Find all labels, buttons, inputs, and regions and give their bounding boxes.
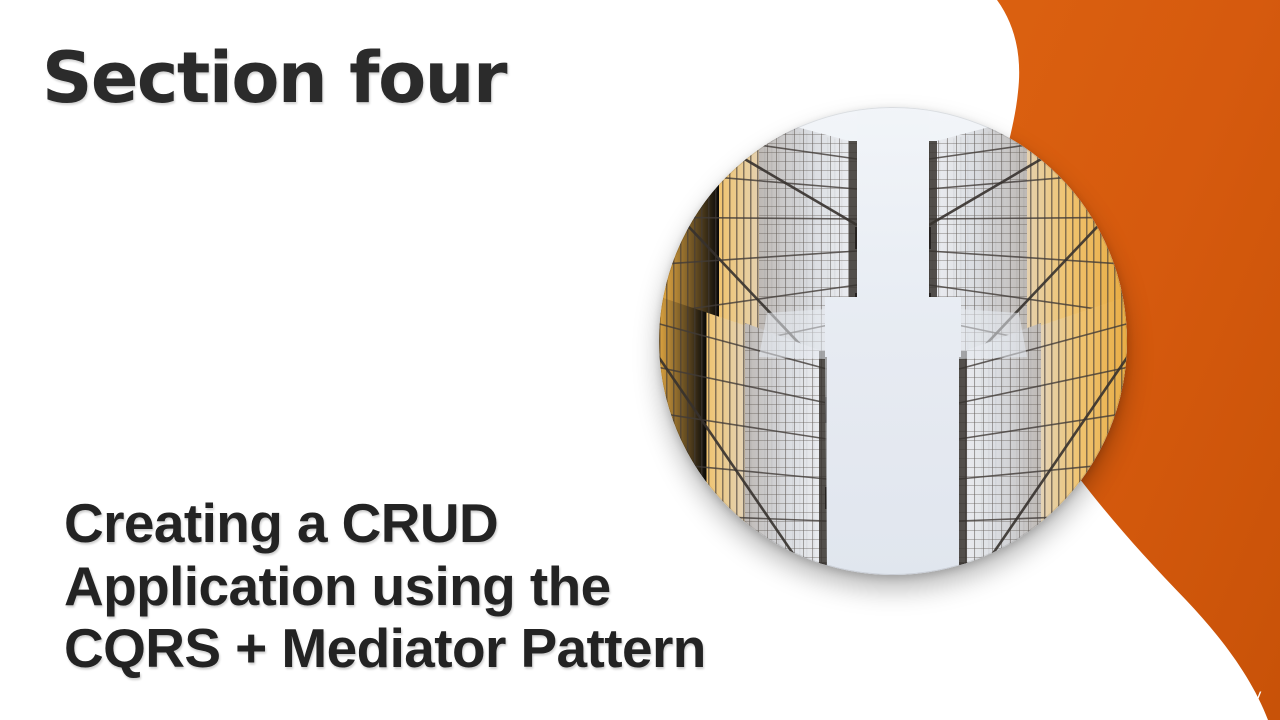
section-label: Section four	[42, 42, 506, 116]
udemy-logo: Udemy	[1180, 684, 1262, 706]
lecture-title-line-2: Application using the	[64, 555, 784, 618]
udemy-u-mark-icon	[1180, 684, 1202, 706]
udemy-wordmark: Udemy	[1208, 688, 1262, 703]
lecture-title-line-3: CQRS + Mediator Pattern	[64, 617, 784, 680]
lecture-title-line-1: Creating a CRUD	[64, 492, 784, 555]
lecture-title: Creating a CRUD Application using the CQ…	[64, 492, 784, 680]
slide-canvas: Section four	[0, 0, 1280, 720]
